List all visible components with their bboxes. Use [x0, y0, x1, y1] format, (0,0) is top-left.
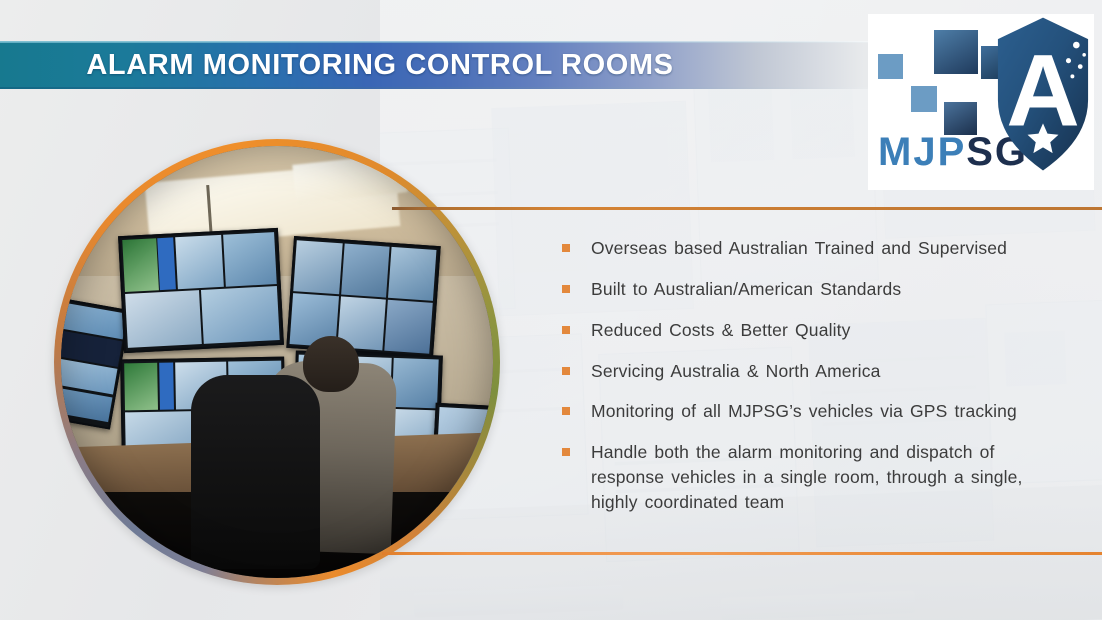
bullet-text: Servicing Australia & North America	[591, 359, 880, 384]
title-bar: ALARM MONITORING CONTROL ROOMS	[0, 41, 900, 89]
logo-card: MJPSG A	[868, 14, 1094, 190]
control-room-photo	[61, 146, 493, 578]
bullet-marker-icon	[562, 407, 570, 415]
list-item: Overseas based Australian Trained and Su…	[562, 236, 1062, 261]
video-wall-panel	[119, 228, 285, 353]
bg-keyboard	[413, 585, 624, 618]
bullet-text: Built to Australian/American Standards	[591, 277, 901, 302]
list-item: Handle both the alarm monitoring and dis…	[562, 440, 1062, 515]
slide-canvas: ALARM MONITORING CONTROL ROOMS MJPSG	[0, 0, 1102, 620]
bullet-marker-icon	[562, 244, 570, 252]
bg-keyboard	[721, 590, 916, 620]
list-item: Monitoring of all MJPSG’s vehicles via G…	[562, 399, 1062, 424]
list-item: Built to Australian/American Standards	[562, 277, 1062, 302]
logo-square	[911, 86, 937, 112]
logo-word-primary: MJP	[878, 130, 966, 174]
video-wall-panel	[286, 236, 440, 358]
bullet-text: Reduced Costs & Better Quality	[591, 318, 851, 343]
slide-title: ALARM MONITORING CONTROL ROOMS	[0, 49, 900, 82]
list-item: Servicing Australia & North America	[562, 359, 1062, 384]
divider-top	[392, 207, 1102, 210]
operator-head	[303, 336, 359, 392]
bullet-marker-icon	[562, 285, 570, 293]
divider-bottom	[382, 552, 1102, 555]
shield-icon: A	[994, 14, 1092, 176]
bullet-marker-icon	[562, 448, 570, 456]
logo-square	[934, 30, 978, 74]
office-chair	[191, 375, 321, 569]
bullet-text: Overseas based Australian Trained and Su…	[591, 236, 1007, 261]
bullet-list: Overseas based Australian Trained and Su…	[562, 236, 1062, 531]
bullet-marker-icon	[562, 326, 570, 334]
control-room-photo-circle	[54, 139, 500, 585]
bullet-marker-icon	[562, 367, 570, 375]
list-item: Reduced Costs & Better Quality	[562, 318, 1062, 343]
bullet-text: Handle both the alarm monitoring and dis…	[591, 440, 1061, 515]
bullet-text: Monitoring of all MJPSG’s vehicles via G…	[591, 399, 1017, 424]
